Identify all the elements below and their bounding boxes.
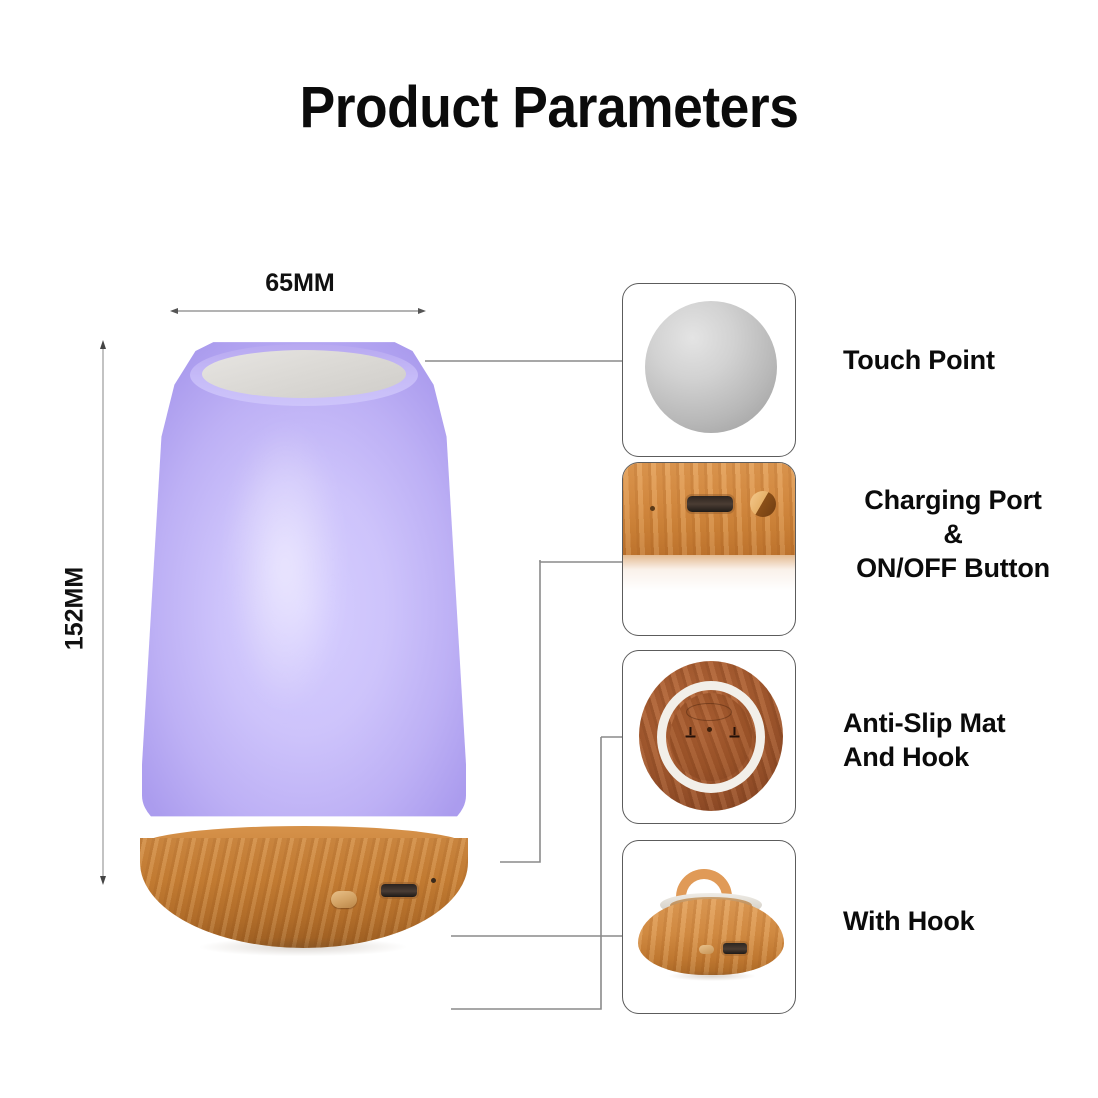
base-usb-port-icon (723, 943, 747, 954)
callout-box-anti-slip-mat (622, 650, 796, 824)
touch-point-disc-icon (645, 301, 777, 433)
lamp-led-indicator-icon (431, 878, 436, 883)
callout-label-anti-slip-mat: Anti-Slip Mat And Hook (843, 706, 1005, 774)
product-image-lamp (118, 338, 490, 948)
lamp-touch-surface (202, 350, 406, 398)
usb-charging-port-icon (687, 496, 733, 512)
height-dimension-arrow (99, 340, 107, 885)
lamp-drop-shadow (158, 934, 448, 960)
base-body (638, 899, 784, 975)
callout-label-charging-port: Charging Port & ON/OFF Button (837, 483, 1069, 585)
infographic-canvas: Product Parameters 65MM 152MM (0, 0, 1098, 1098)
lamp-shade-highlight (210, 378, 360, 798)
callout-label-with-hook: With Hook (843, 904, 974, 938)
hook-mark-right-icon (729, 727, 740, 738)
lamp-power-button-icon (331, 891, 357, 908)
onoff-button-icon (750, 491, 776, 517)
hook-mark-left-icon (685, 727, 696, 738)
lamp-wood-base (140, 838, 468, 948)
led-indicator-icon (650, 506, 655, 511)
page-title: Product Parameters (44, 74, 1054, 141)
base-power-button-icon (699, 945, 714, 954)
callout-label-touch-point: Touch Point (843, 343, 995, 377)
callout-box-with-hook (622, 840, 796, 1014)
height-dimension-label: 152MM (61, 529, 90, 689)
callout-box-charging-port (622, 462, 796, 636)
callout-box-touch-point (622, 283, 796, 457)
wood-panel-reflection (623, 555, 795, 591)
bottom-center-dot-icon (707, 727, 712, 732)
width-dimension-label: 65MM (178, 269, 422, 298)
width-dimension-arrow (170, 307, 426, 315)
base-drop-shadow (651, 969, 773, 983)
lamp-usb-port-icon (381, 884, 417, 897)
hook-slot-icon (686, 703, 732, 721)
